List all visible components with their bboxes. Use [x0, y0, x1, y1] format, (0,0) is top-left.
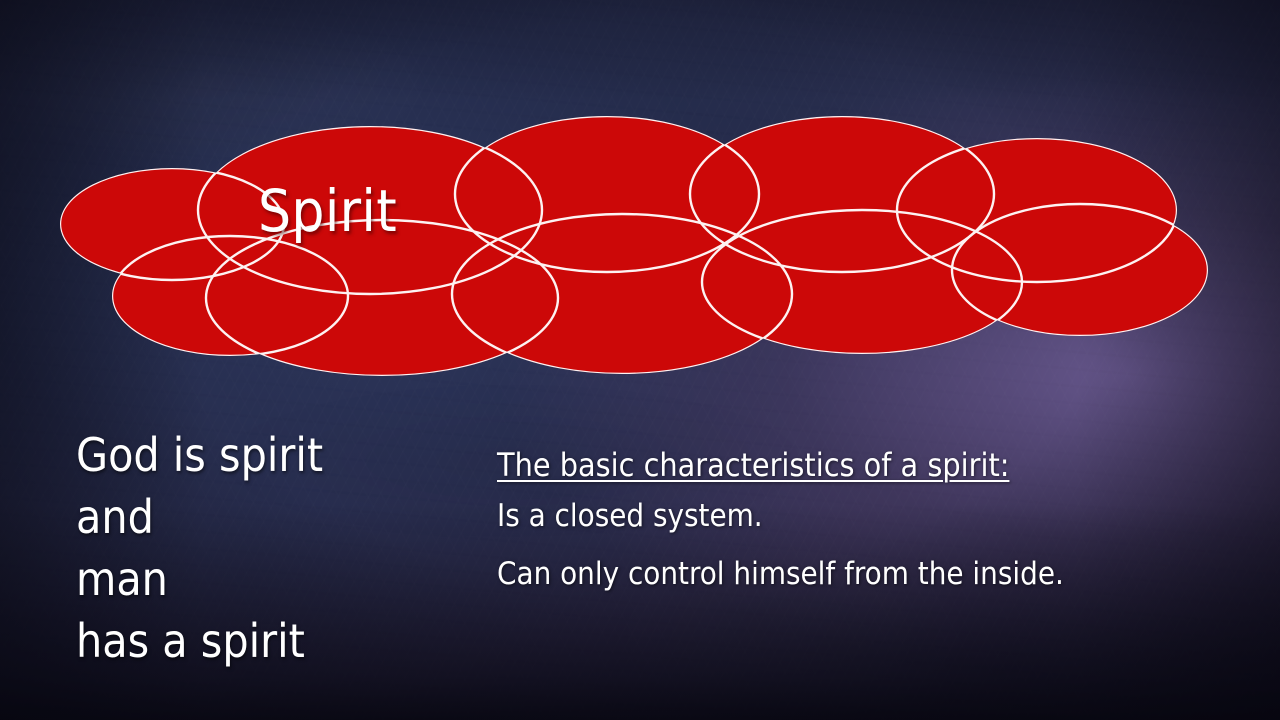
slide-title: Spirit [258, 182, 397, 240]
left-text-line: God is spirit [76, 424, 436, 486]
characteristics-item: Is a closed system. [497, 487, 1197, 545]
cloud-shape [52, 82, 1222, 382]
left-text-line: man [76, 548, 436, 610]
left-text-block: God is spirit and man has a spirit [76, 424, 436, 672]
right-text-block: The basic characteristics of a spirit: I… [497, 443, 1197, 603]
slide-canvas: Spirit God is spirit and man has a spiri… [0, 0, 1280, 720]
left-text-line: has a spirit [76, 610, 436, 672]
characteristics-item: Can only control himself from the inside… [497, 545, 1197, 603]
left-text-line: and [76, 486, 436, 548]
characteristics-heading: The basic characteristics of a spirit: [497, 443, 1197, 487]
